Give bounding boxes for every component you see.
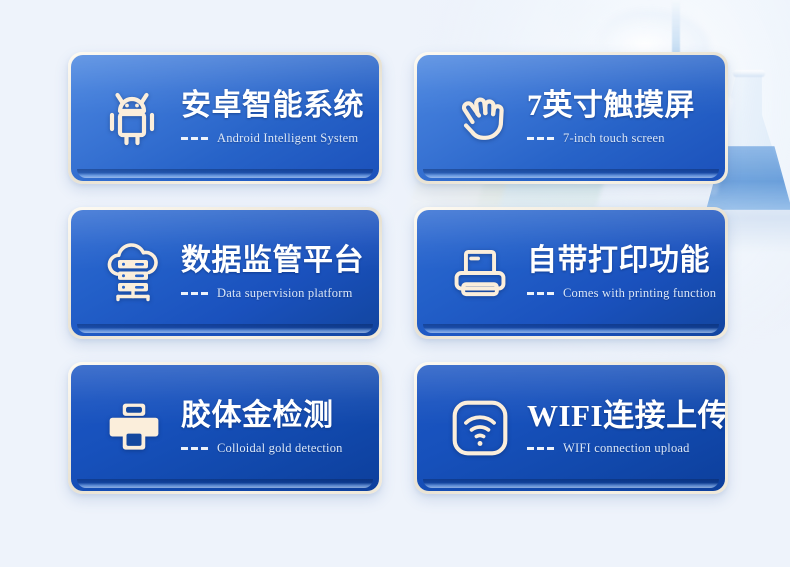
feature-card-wifi-upload[interactable]: WIFI连接上传 WIFI connection upload — [414, 362, 728, 494]
feature-title-cn: WIFI连接上传 — [527, 400, 715, 433]
feature-card-text: 自带打印功能 Comes with printing function — [523, 245, 725, 301]
feature-title-cn: 7英寸触摸屏 — [527, 90, 715, 122]
android-icon — [91, 75, 177, 161]
hand-touch-icon — [437, 75, 523, 161]
printer-solid-icon — [91, 385, 177, 471]
wifi-square-icon — [437, 385, 523, 471]
feature-card-data-supervision[interactable]: 数据监管平台 Data supervision platform — [68, 207, 382, 339]
feature-card-touch-screen[interactable]: 7英寸触摸屏 7-inch touch screen — [414, 52, 728, 184]
printer-outline-icon — [437, 230, 523, 316]
feature-title-en: Colloidal gold detection — [217, 441, 343, 456]
dash-marker-icon — [181, 137, 208, 140]
feature-subtitle-row: Android Intelligent System — [181, 131, 369, 146]
feature-title-cn: 胶体金检测 — [181, 400, 369, 432]
feature-title-en: Android Intelligent System — [217, 131, 358, 146]
feature-card-text: 数据监管平台 Data supervision platform — [177, 245, 379, 301]
feature-title-cn: 数据监管平台 — [181, 245, 369, 277]
feature-title-cn: 自带打印功能 — [527, 245, 715, 277]
dash-marker-icon — [527, 137, 554, 140]
dash-marker-icon — [181, 292, 208, 295]
feature-card-printing-function[interactable]: 自带打印功能 Comes with printing function — [414, 207, 728, 339]
cloud-server-icon — [91, 230, 177, 316]
feature-subtitle-row: 7-inch touch screen — [527, 131, 715, 146]
feature-title-en: Comes with printing function — [563, 286, 716, 301]
feature-subtitle-row: WIFI connection upload — [527, 441, 715, 456]
feature-subtitle-row: Colloidal gold detection — [181, 441, 369, 456]
feature-card-android-system[interactable]: 安卓智能系统 Android Intelligent System — [68, 52, 382, 184]
flask-rim — [733, 70, 765, 77]
feature-grid-page: 安卓智能系统 Android Intelligent System — [0, 0, 790, 567]
feature-card-text: 胶体金检测 Colloidal gold detection — [177, 400, 379, 456]
feature-title-en: Data supervision platform — [217, 286, 353, 301]
feature-title-cn: 安卓智能系统 — [181, 90, 369, 122]
dash-marker-icon — [181, 447, 208, 450]
feature-card-grid: 安卓智能系统 Android Intelligent System — [68, 52, 728, 494]
dash-marker-icon — [527, 292, 554, 295]
feature-card-text: 安卓智能系统 Android Intelligent System — [177, 90, 379, 146]
feature-title-en: 7-inch touch screen — [563, 131, 665, 146]
feature-subtitle-row: Comes with printing function — [527, 286, 715, 301]
feature-title-en: WIFI connection upload — [563, 441, 690, 456]
feature-card-colloidal-gold[interactable]: 胶体金检测 Colloidal gold detection — [68, 362, 382, 494]
feature-subtitle-row: Data supervision platform — [181, 286, 369, 301]
dash-marker-icon — [527, 447, 554, 450]
feature-card-text: WIFI连接上传 WIFI connection upload — [523, 400, 725, 457]
feature-card-text: 7英寸触摸屏 7-inch touch screen — [523, 90, 725, 146]
